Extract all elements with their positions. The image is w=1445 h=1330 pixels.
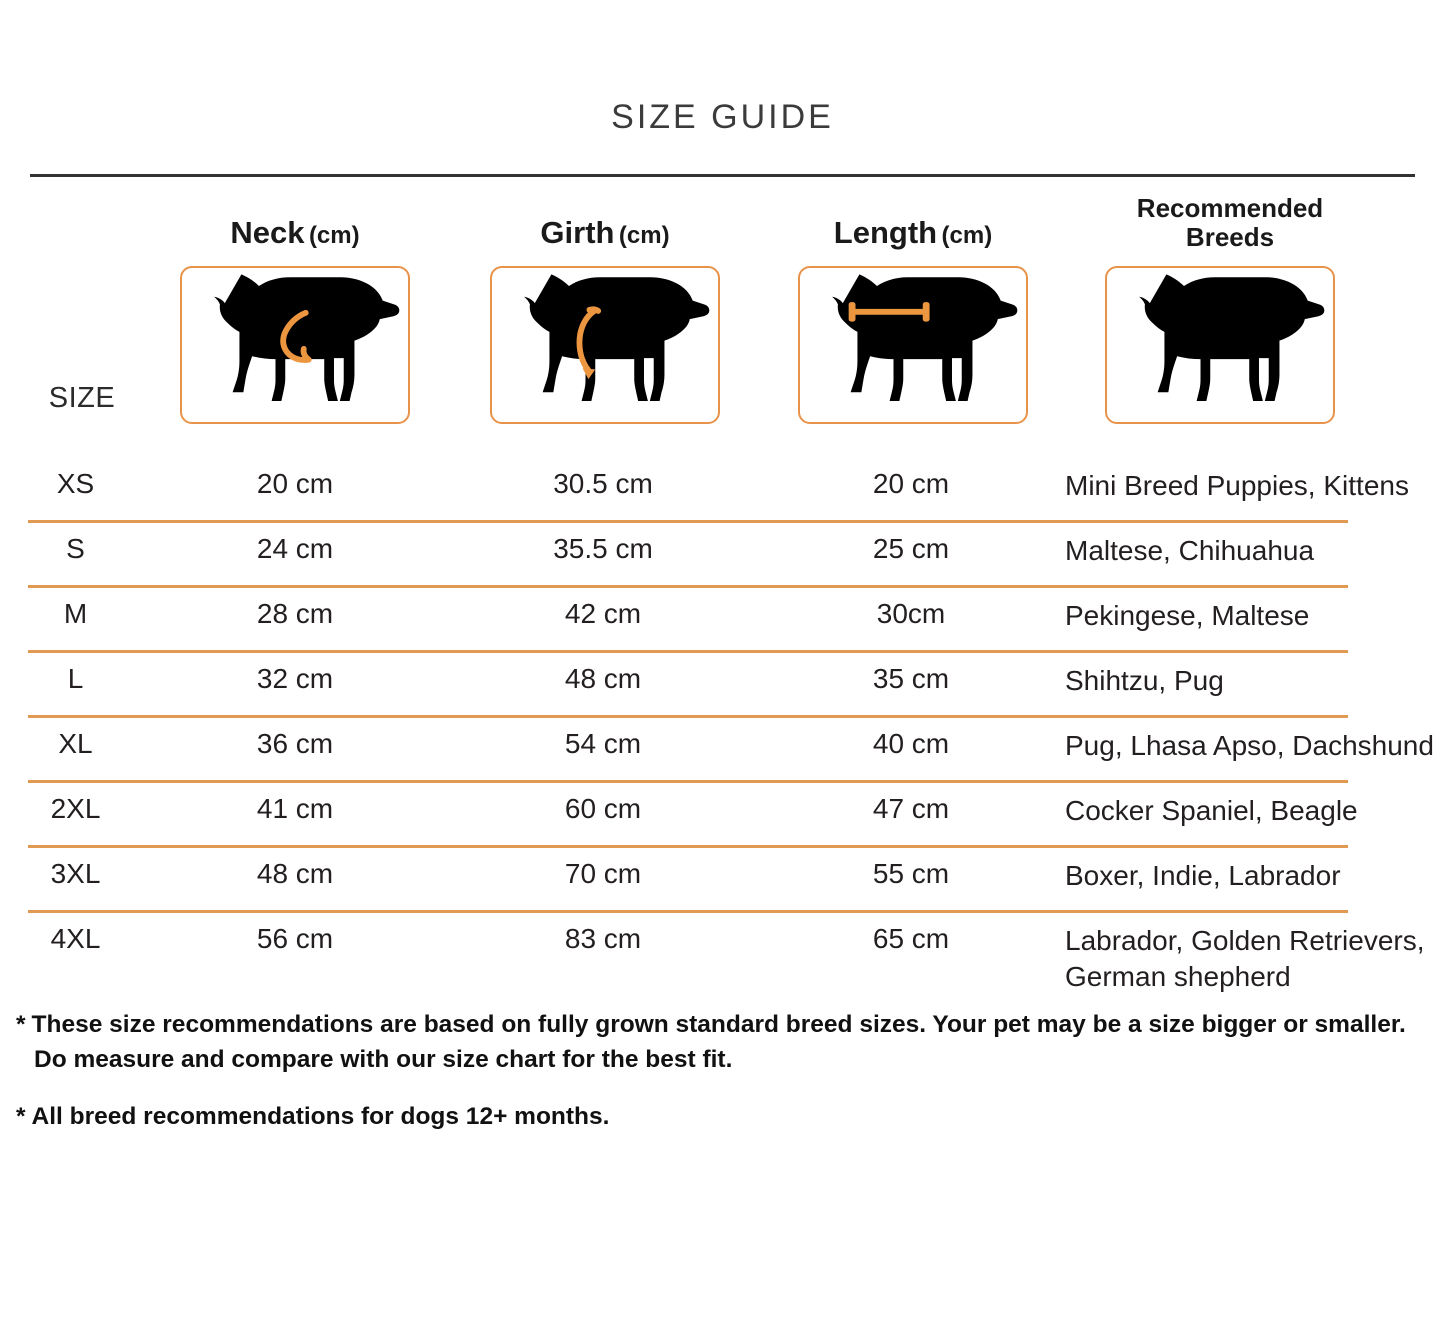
column-header-breeds: Recommended Breeds xyxy=(1100,194,1360,252)
cell-neck: 48 cm xyxy=(180,858,410,890)
column-header-neck-label: Neck xyxy=(230,215,304,250)
footnote-1: *These size recommendations are based on… xyxy=(16,1008,1436,1078)
cell-neck: 20 cm xyxy=(180,468,410,500)
neck-measure-illustration-box xyxy=(180,266,410,424)
cell-breeds: Shihtzu, Pug xyxy=(1065,663,1445,699)
girth-measure-illustration-box xyxy=(490,266,720,424)
cell-breeds: Mini Breed Puppies, Kittens xyxy=(1065,468,1445,504)
table-row: M 28 cm 42 cm 30cm Pekingese, Maltese xyxy=(0,588,1445,653)
cell-neck: 28 cm xyxy=(180,598,410,630)
dog-silhouette-icon xyxy=(832,274,1017,401)
cell-breeds: Pug, Lhasa Apso, Dachshund xyxy=(1065,728,1445,764)
footnote-2-star: * xyxy=(16,1103,26,1130)
cell-size: L xyxy=(18,663,133,695)
cell-size: 3XL xyxy=(18,858,133,890)
column-header-girth-unit: (cm) xyxy=(619,222,670,249)
column-header-neck: Neck (cm) xyxy=(180,216,410,251)
footnote-1-line1: These size recommendations are based on … xyxy=(32,1011,1406,1038)
footnote-2: *All breed recommendations for dogs 12+ … xyxy=(16,1100,1436,1135)
cell-girth: 30.5 cm xyxy=(488,468,718,500)
cell-length: 20 cm xyxy=(796,468,1026,500)
column-header-length-unit: (cm) xyxy=(942,222,993,249)
cell-length: 55 cm xyxy=(796,858,1026,890)
table-row: XL 36 cm 54 cm 40 cm Pug, Lhasa Apso, Da… xyxy=(0,718,1445,783)
cell-neck: 56 cm xyxy=(180,923,410,955)
cell-size: XL xyxy=(18,728,133,760)
cell-length: 40 cm xyxy=(796,728,1026,760)
column-header-breeds-line2: Breeds xyxy=(1100,223,1360,252)
size-table: XS 20 cm 30.5 cm 20 cm Mini Breed Puppie… xyxy=(0,458,1445,991)
cell-breeds: Maltese, Chihuahua xyxy=(1065,533,1445,569)
cell-size: S xyxy=(18,533,133,565)
table-row: 4XL 56 cm 83 cm 65 cm Labrador, Golden R… xyxy=(0,913,1445,991)
cell-neck: 36 cm xyxy=(180,728,410,760)
table-row: 3XL 48 cm 70 cm 55 cm Boxer, Indie, Labr… xyxy=(0,848,1445,913)
dog-silhouette-icon xyxy=(524,274,709,401)
column-header-length: Length (cm) xyxy=(798,216,1028,251)
length-measure-illustration-box xyxy=(798,266,1028,424)
footnote-1-star: * xyxy=(16,1011,26,1038)
cell-length: 30cm xyxy=(796,598,1026,630)
breeds-illustration-box xyxy=(1105,266,1335,424)
cell-girth: 42 cm xyxy=(488,598,718,630)
cell-breeds: Pekingese, Maltese xyxy=(1065,598,1445,634)
size-column-label: SIZE xyxy=(22,382,142,415)
column-header-girth: Girth (cm) xyxy=(490,216,720,251)
cell-size: XS xyxy=(18,468,133,500)
header-rule xyxy=(30,174,1415,177)
dog-silhouette-icon xyxy=(214,274,399,401)
table-row: S 24 cm 35.5 cm 25 cm Maltese, Chihuahua xyxy=(0,523,1445,588)
column-header-girth-label: Girth xyxy=(540,215,614,250)
cell-length: 47 cm xyxy=(796,793,1026,825)
cell-breeds: Labrador, Golden Retrievers, German shep… xyxy=(1065,923,1445,995)
cell-girth: 60 cm xyxy=(488,793,718,825)
cell-breeds: Cocker Spaniel, Beagle xyxy=(1065,793,1445,829)
cell-girth: 70 cm xyxy=(488,858,718,890)
cell-neck: 24 cm xyxy=(180,533,410,565)
cell-size: 2XL xyxy=(18,793,133,825)
footnote-1-line2: Do measure and compare with our size cha… xyxy=(16,1043,1436,1078)
table-row: L 32 cm 48 cm 35 cm Shihtzu, Pug xyxy=(0,653,1445,718)
footnotes: *These size recommendations are based on… xyxy=(16,1008,1436,1156)
cell-girth: 83 cm xyxy=(488,923,718,955)
cell-neck: 41 cm xyxy=(180,793,410,825)
column-header-breeds-line1: Recommended xyxy=(1100,194,1360,223)
column-header-neck-unit: (cm) xyxy=(309,222,360,249)
column-header-length-label: Length xyxy=(834,215,937,250)
cell-length: 35 cm xyxy=(796,663,1026,695)
cell-girth: 54 cm xyxy=(488,728,718,760)
table-row: 2XL 41 cm 60 cm 47 cm Cocker Spaniel, Be… xyxy=(0,783,1445,848)
cell-neck: 32 cm xyxy=(180,663,410,695)
cell-breeds: Boxer, Indie, Labrador xyxy=(1065,858,1445,894)
cell-girth: 35.5 cm xyxy=(488,533,718,565)
dog-silhouette-icon xyxy=(1139,274,1324,401)
table-row: XS 20 cm 30.5 cm 20 cm Mini Breed Puppie… xyxy=(0,458,1445,523)
cell-girth: 48 cm xyxy=(488,663,718,695)
page-title: SIZE GUIDE xyxy=(0,98,1445,137)
cell-size: M xyxy=(18,598,133,630)
cell-size: 4XL xyxy=(18,923,133,955)
cell-length: 65 cm xyxy=(796,923,1026,955)
cell-length: 25 cm xyxy=(796,533,1026,565)
footnote-2-text: All breed recommendations for dogs 12+ m… xyxy=(32,1103,610,1130)
